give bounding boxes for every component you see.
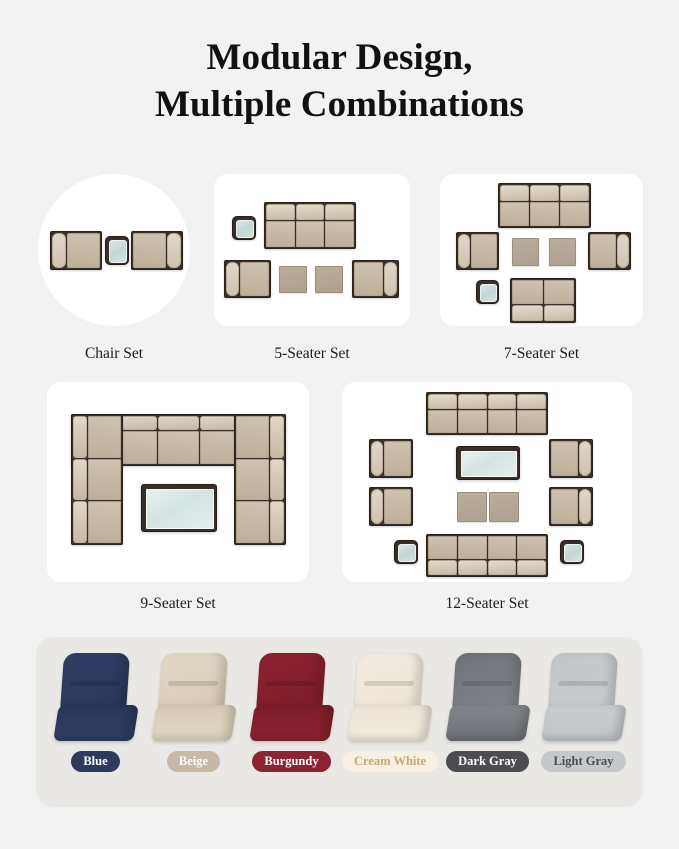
seat-cushion <box>428 410 457 433</box>
seat-cushion <box>517 536 546 559</box>
chair-top-view <box>369 439 413 478</box>
cushion-preview <box>542 653 626 745</box>
cushion-crease <box>265 681 315 686</box>
cushion-preview <box>348 653 432 745</box>
back-cushion <box>530 185 559 201</box>
sofa-back-cushions <box>428 394 546 409</box>
sofa-4-seat-top-view <box>426 534 548 577</box>
set-label-5-seater-set: 5-Seater Set <box>214 345 410 363</box>
chair-cushion <box>67 233 100 268</box>
cushion-preview <box>54 653 138 745</box>
ottoman-top-view <box>549 238 576 266</box>
set-label-9-seater-set: 9-Seater Set <box>47 595 309 613</box>
chair-cushion <box>133 233 166 268</box>
cushion-crease <box>557 681 607 686</box>
back-cushion <box>73 416 87 458</box>
color-swatch-blue[interactable]: Blue <box>48 653 143 772</box>
set-card-7-seater-set[interactable] <box>440 174 643 326</box>
glass-top <box>236 220 254 238</box>
glass-top <box>146 489 214 529</box>
chair-armrest <box>226 262 239 296</box>
back-cushion <box>544 305 575 321</box>
sectional-seat-cushions <box>88 416 121 543</box>
set-card-12-seater-set[interactable] <box>342 382 632 582</box>
seat-cushion <box>458 536 487 559</box>
cushion-seat <box>445 705 531 741</box>
chair-top-view <box>549 487 593 526</box>
back-cushion <box>488 560 517 575</box>
chair-cushion <box>384 441 411 476</box>
sofa-seat-cushions <box>266 221 354 247</box>
set-card-chair-set[interactable] <box>38 174 190 326</box>
back-cushion <box>512 305 543 321</box>
seat-cushion <box>560 202 589 226</box>
chair-top-view <box>588 232 631 270</box>
sofa-seat-cushions <box>428 410 546 433</box>
cushion-crease <box>167 681 217 686</box>
cushion-seat <box>151 705 237 741</box>
sofa-back-cushions <box>266 204 354 220</box>
sofa-seat-cushions <box>512 280 574 304</box>
color-label-pill[interactable]: Burgundy <box>252 751 330 772</box>
sofa-seat-cushions <box>428 536 546 559</box>
back-cushion <box>488 394 517 409</box>
seat-cushion <box>428 536 457 559</box>
seat-cushion <box>544 280 575 304</box>
chair-armrest <box>52 233 66 268</box>
chair-top-view <box>549 439 593 478</box>
ottoman-top-view <box>512 238 539 266</box>
chair-top-view <box>369 487 413 526</box>
back-cushion <box>458 394 487 409</box>
sectional-right-run <box>234 414 286 545</box>
cushion-crease <box>461 681 511 686</box>
ottoman-top-view <box>457 492 487 522</box>
back-cushion <box>428 560 457 575</box>
ottoman-top-view <box>489 492 519 522</box>
cushion-seat <box>541 705 627 741</box>
back-cushion <box>266 204 295 220</box>
glass-top <box>564 544 582 562</box>
chair-top-view <box>131 231 183 270</box>
chair-cushion <box>384 489 411 524</box>
chair-cushion <box>471 234 497 268</box>
cushion-preview <box>250 653 334 745</box>
chair-armrest <box>167 233 181 268</box>
set-label-7-seater-set: 7-Seater Set <box>440 345 643 363</box>
sofa-back-cushions <box>500 185 589 201</box>
chair-armrest <box>579 441 591 476</box>
back-cushion <box>270 416 284 458</box>
cushion-preview <box>446 653 530 745</box>
cushion-seat <box>249 705 335 741</box>
sofa-4-seat-top-view <box>426 392 548 435</box>
cushion-preview <box>152 653 236 745</box>
seat-cushion <box>236 416 269 458</box>
ottoman-top-view <box>315 266 343 293</box>
page-title-line-2: Multiple Combinations <box>0 81 679 128</box>
page-title: Modular Design, Multiple Combinations <box>0 34 679 128</box>
seat-cushion <box>88 416 121 458</box>
sofa-back-cushions <box>428 560 546 575</box>
back-cushion <box>296 204 325 220</box>
seat-cushion <box>530 202 559 226</box>
seat-cushion <box>500 202 529 226</box>
chair-armrest <box>371 441 383 476</box>
back-cushion <box>428 394 457 409</box>
chair-cushion <box>240 262 269 296</box>
color-label-pill[interactable]: Dark Gray <box>446 751 529 772</box>
sofa-3-seat-top-view <box>498 183 591 228</box>
back-cushion <box>500 185 529 201</box>
seat-cushion <box>458 410 487 433</box>
side-table-top-view <box>105 236 129 265</box>
seat-cushion <box>488 536 517 559</box>
color-label-pill[interactable]: Light Gray <box>541 751 625 772</box>
chair-top-view <box>50 231 102 270</box>
chair-cushion <box>551 489 578 524</box>
chair-armrest <box>579 489 591 524</box>
set-card-9-seater-set[interactable] <box>47 382 309 582</box>
color-swatch-dark-gray[interactable]: Dark Gray <box>440 653 535 772</box>
chair-cushion <box>590 234 616 268</box>
back-cushion <box>270 501 284 543</box>
set-label-chair-set: Chair Set <box>38 345 190 363</box>
seat-cushion <box>517 410 546 433</box>
back-cushion <box>270 459 284 501</box>
chair-armrest <box>617 234 629 268</box>
side-table-top-view <box>560 540 584 564</box>
seat-cushion <box>88 459 121 501</box>
chair-top-view <box>224 260 271 298</box>
loveseat-2-seat-top-view <box>510 278 576 323</box>
seat-cushion <box>88 501 121 543</box>
color-swatch-burgundy[interactable]: Burgundy <box>244 653 339 772</box>
seat-cushion <box>325 221 354 247</box>
sofa-back-cushions <box>512 305 574 321</box>
glass-top <box>109 240 127 263</box>
cushion-crease <box>69 681 119 686</box>
set-label-12-seater-set: 12-Seater Set <box>342 595 632 613</box>
color-options-panel: Blue Beige Burgundy Cream White <box>36 637 643 807</box>
coffee-table-top-view <box>141 484 217 532</box>
cushion-seat <box>53 705 139 741</box>
back-cushion <box>325 204 354 220</box>
sectional-seat-cushions <box>236 416 269 543</box>
side-table-top-view <box>394 540 418 564</box>
chair-armrest <box>458 234 470 268</box>
back-cushion <box>517 560 546 575</box>
seat-cushion <box>296 221 325 247</box>
set-card-5-seater-set[interactable] <box>214 174 410 326</box>
side-table-top-view <box>232 216 256 240</box>
back-cushion <box>73 501 87 543</box>
seat-cushion <box>158 431 199 464</box>
ottoman-top-view <box>279 266 307 293</box>
color-label-pill[interactable]: Blue <box>71 751 119 772</box>
page-title-line-1: Modular Design, <box>0 34 679 81</box>
chair-cushion <box>551 441 578 476</box>
cushion-crease <box>363 681 413 686</box>
sofa-seat-cushions <box>500 202 589 226</box>
sectional-back-cushions <box>270 416 284 543</box>
glass-top <box>480 284 497 302</box>
seat-cushion <box>488 410 517 433</box>
color-swatch-cream-white[interactable]: Cream White <box>342 653 437 772</box>
back-cushion <box>458 560 487 575</box>
seat-cushion <box>512 280 543 304</box>
back-cushion <box>517 394 546 409</box>
cushion-seat <box>347 705 433 741</box>
sofa-3-seat-top-view <box>264 202 356 249</box>
chair-armrest <box>371 489 383 524</box>
back-cushion <box>73 459 87 501</box>
seat-cushion <box>236 459 269 501</box>
seat-cushion <box>236 501 269 543</box>
seat-cushion <box>266 221 295 247</box>
glass-top <box>398 544 416 562</box>
sectional-back-cushions <box>73 416 87 543</box>
back-cushion <box>158 416 199 430</box>
coffee-table-top-view <box>456 446 520 480</box>
sectional-left-run <box>71 414 123 545</box>
back-cushion <box>560 185 589 201</box>
chair-cushion <box>354 262 383 296</box>
color-label-pill[interactable]: Beige <box>167 751 220 772</box>
color-label-pill[interactable]: Cream White <box>342 751 438 772</box>
color-swatch-light-gray[interactable]: Light Gray <box>536 653 631 772</box>
chair-top-view <box>456 232 499 270</box>
chair-armrest <box>384 262 397 296</box>
chair-top-view <box>352 260 399 298</box>
glass-top <box>461 451 517 477</box>
side-table-top-view <box>476 280 499 304</box>
color-swatch-beige[interactable]: Beige <box>146 653 241 772</box>
